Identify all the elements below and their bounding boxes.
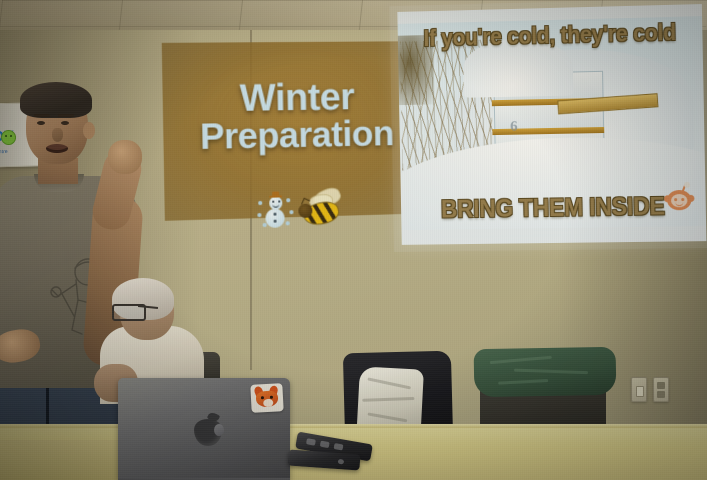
power-outlet-plate [653,377,669,402]
projected-title-slide: Winter Preparation [162,41,430,221]
meme-bottom-caption: BRING THEM INSIDE [413,192,694,225]
photo-scene: ly OK Family Centre Winter Preparation [0,0,707,480]
slide-title: Winter Preparation [162,79,428,156]
light-switch-toggle[interactable] [636,386,644,397]
green-jacket [474,347,617,397]
laptop[interactable] [118,378,290,480]
presenter-hair [20,82,92,118]
projected-meme-slide: 6 2 If you're cold, they're cold BRING T… [397,4,706,245]
light-switch-plate[interactable] [631,377,647,402]
meme-frame: 6 2 If you're cold, they're cold BRING T… [397,4,706,245]
reddit-snoo-icon [665,184,694,213]
honeybee-emoji [299,192,341,227]
hive-label-1: 6 [510,119,518,136]
apple-logo-icon [194,412,222,446]
slide-title-line2: Preparation [163,115,429,155]
snowman-emoji [257,190,292,231]
fox-sticker [250,383,283,413]
slide-emoji-row [164,187,430,234]
presenter-mouth-speaking [46,144,68,153]
presenter-raised-fist [108,140,142,174]
